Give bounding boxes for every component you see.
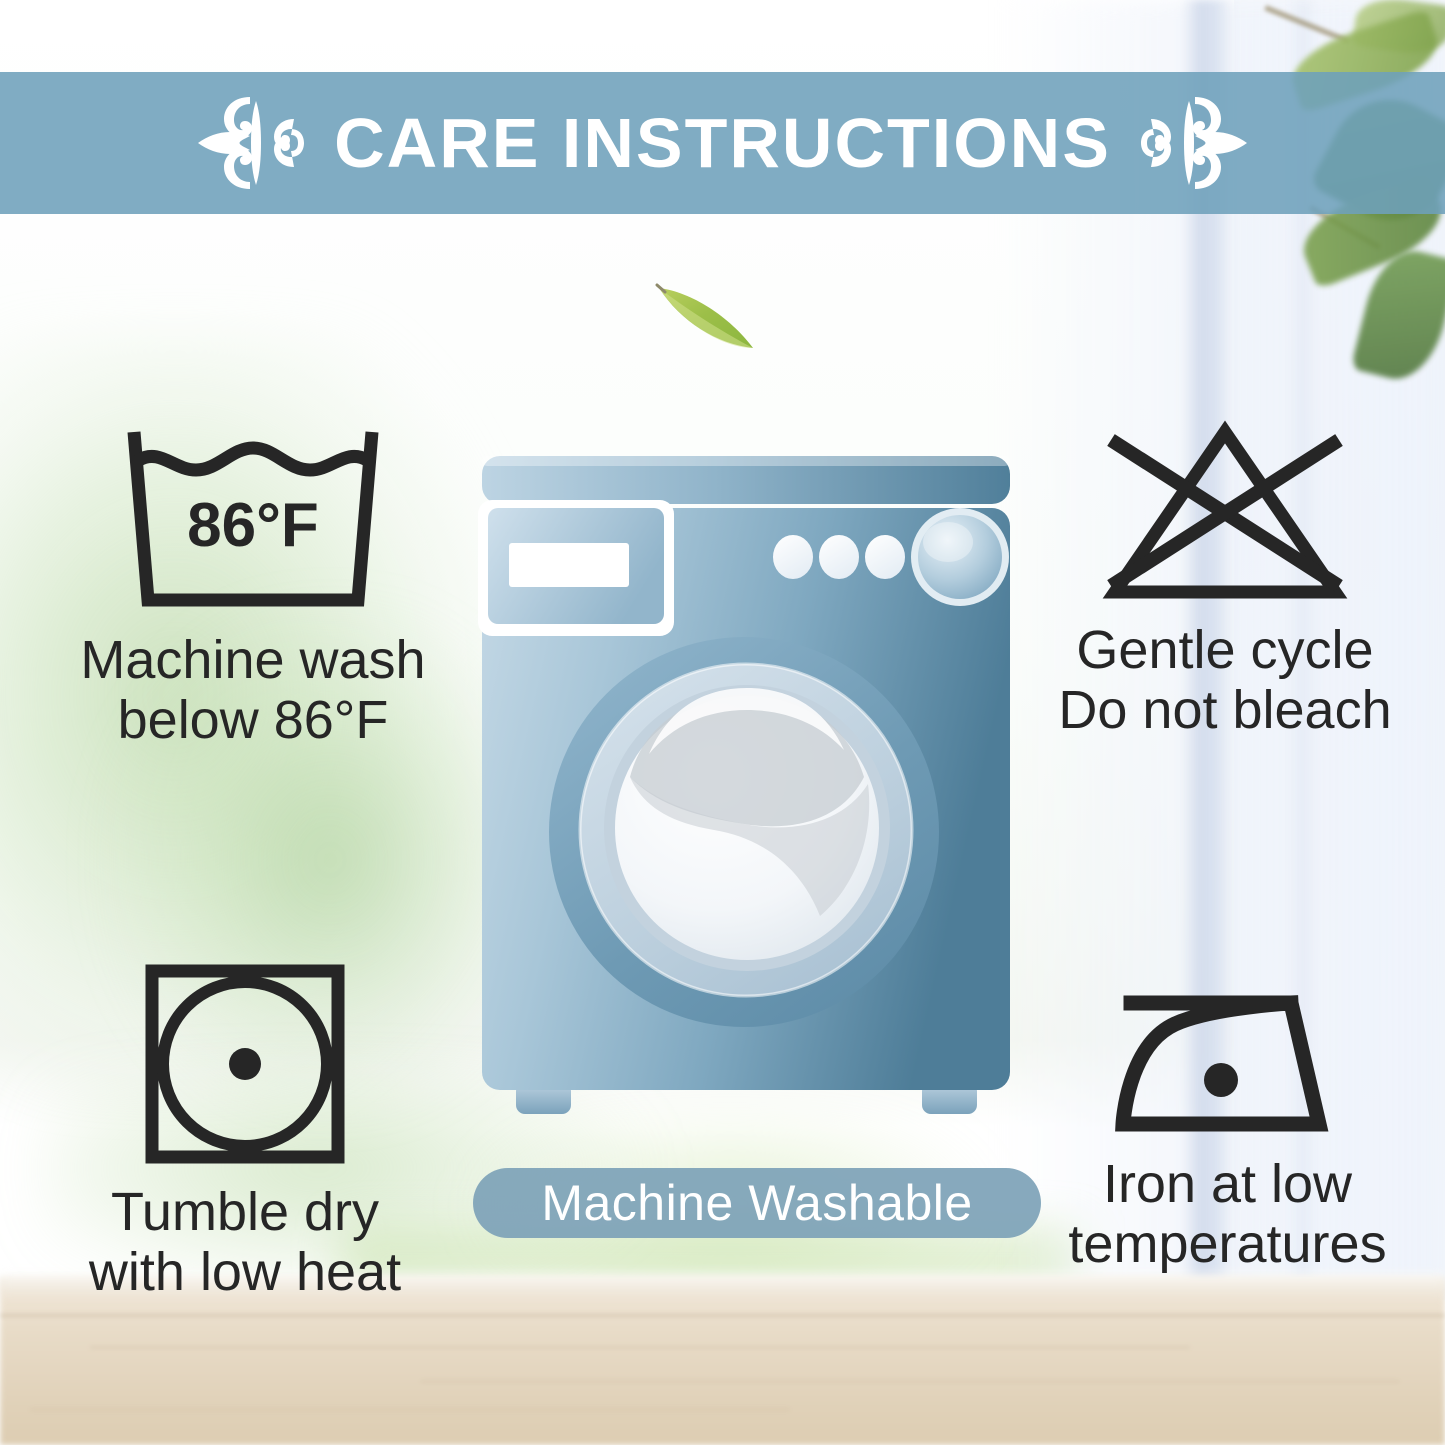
fleur-de-lis-ornament-left-icon [192, 91, 308, 195]
care-instructions-poster: CARE INSTRUCTIONS 86°F Machine wash belo… [0, 0, 1445, 1445]
care-symbol-machine-wash: 86°F Machine wash below 86°F [18, 418, 488, 751]
wood-grain-line [420, 1380, 1400, 1383]
washing-machine-illustration [444, 432, 1044, 1132]
machine-washable-label: Machine Washable [541, 1174, 972, 1232]
caption-iron-low: Iron at low temperatures [1010, 1154, 1445, 1275]
wash-temperature-value: 86°F [187, 491, 319, 560]
care-symbol-do-not-bleach: Gentle cycle Do not bleach [1010, 418, 1440, 741]
care-symbol-iron-low: Iron at low temperatures [1010, 962, 1445, 1275]
caption-line-1: Gentle cycle [1010, 620, 1440, 680]
wood-grain-line [90, 1346, 1190, 1349]
wash-basin-icon: 86°F [124, 418, 382, 614]
caption-line-1: Machine wash [18, 630, 488, 690]
caption-line-1: Tumble dry [10, 1182, 480, 1242]
fleur-de-lis-ornament-right-icon [1137, 91, 1253, 195]
caption-line-1: Iron at low [1010, 1154, 1445, 1214]
care-symbol-tumble-dry: Tumble dry with low heat [10, 962, 480, 1303]
drawer-slot [509, 543, 629, 587]
crossed-triangle-icon [1099, 418, 1351, 604]
caption-line-2: with low heat [10, 1242, 480, 1302]
caption-line-2: below 86°F [18, 690, 488, 750]
machine-washable-badge: Machine Washable [473, 1168, 1041, 1238]
wood-grain-line [0, 1314, 1445, 1317]
top-highlight [482, 456, 1010, 466]
indicator-dot [773, 535, 813, 579]
banner: CARE INSTRUCTIONS [0, 72, 1445, 214]
caption-line-2: temperatures [1010, 1214, 1445, 1274]
wood-grain-line [30, 1408, 790, 1411]
green-leaf-icon [655, 282, 759, 354]
caption-line-2: Do not bleach [1010, 680, 1440, 740]
indicator-dot [865, 535, 905, 579]
iron-icon [1113, 962, 1343, 1138]
caption-tumble-dry: Tumble dry with low heat [10, 1182, 480, 1303]
caption-machine-wash: Machine wash below 86°F [18, 630, 488, 751]
indicator-dot [819, 535, 859, 579]
banner-title: CARE INSTRUCTIONS [334, 108, 1111, 178]
knob-highlight [923, 522, 973, 562]
tumble-dry-square-icon [143, 962, 347, 1166]
caption-do-not-bleach: Gentle cycle Do not bleach [1010, 620, 1440, 741]
